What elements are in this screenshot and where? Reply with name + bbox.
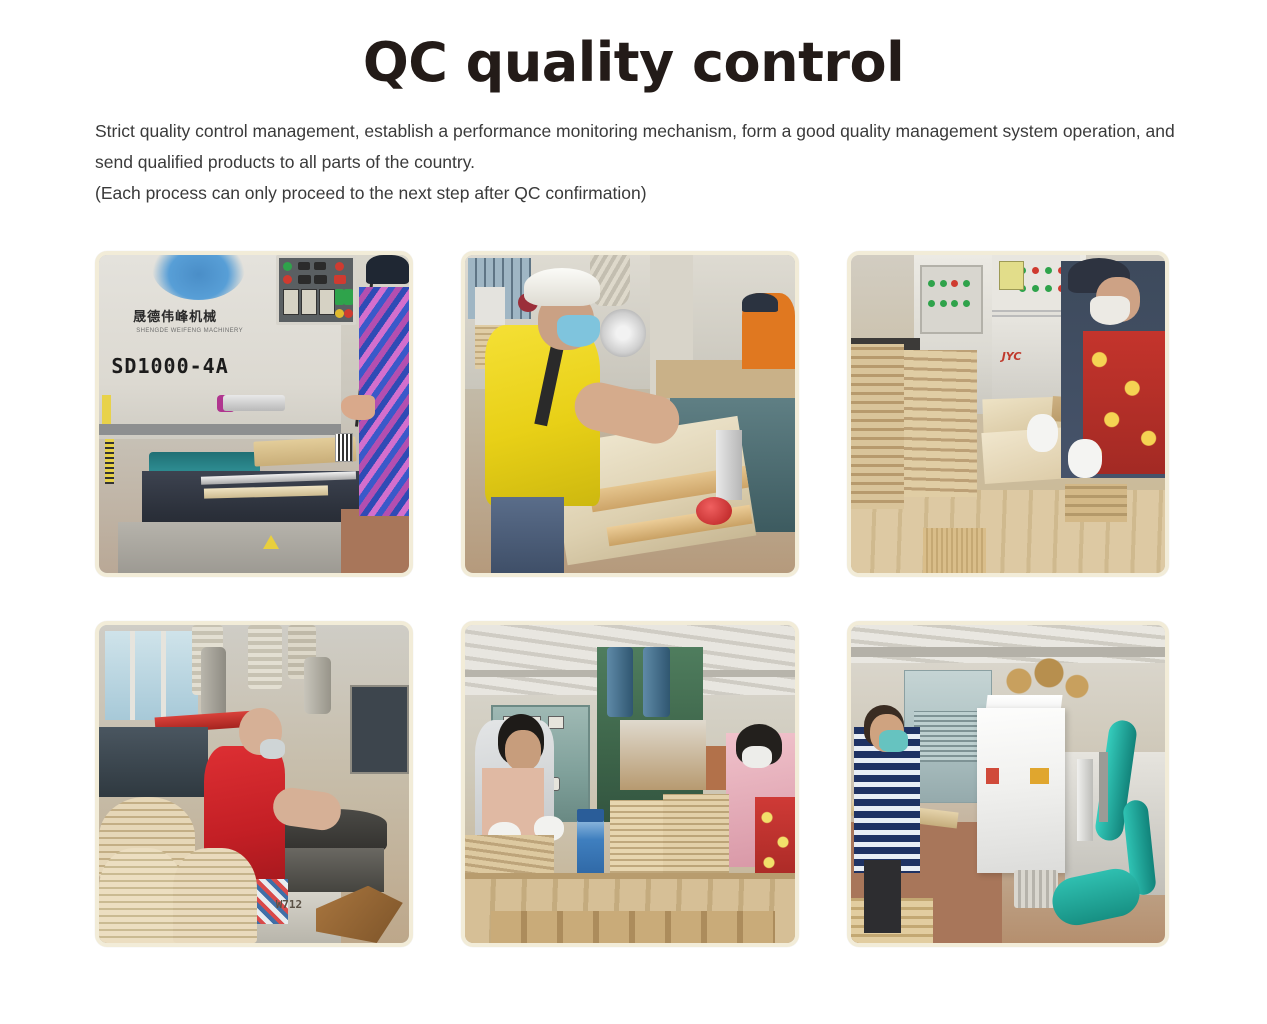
press-opening bbox=[620, 720, 706, 790]
press-ram-right bbox=[643, 647, 669, 717]
bamboo-mat-panel bbox=[923, 528, 986, 573]
operator-left-face bbox=[505, 730, 541, 771]
brand-name-cn: 晟德伟峰机械 bbox=[133, 306, 217, 325]
machine-pressure-post bbox=[716, 430, 742, 500]
intro-paragraph: Strict quality control management, estab… bbox=[95, 116, 1175, 209]
jyc-brand-label: JYC bbox=[1002, 350, 1022, 363]
cabinet-orange-label bbox=[1030, 768, 1049, 784]
background-worker-cap bbox=[742, 293, 778, 312]
gallery-photo-6[interactable]: Worker in a navy striped shirt and blue … bbox=[847, 621, 1169, 947]
photo-5-image bbox=[465, 625, 795, 943]
panel-stack-middle bbox=[904, 350, 976, 496]
qc-quality-control-page: QC quality control Strict quality contro… bbox=[0, 0, 1267, 1024]
machine-model-label: SD1000-4A bbox=[111, 354, 228, 378]
operator-cap bbox=[366, 255, 409, 284]
dust-duct-2 bbox=[248, 625, 282, 689]
timber-strip-bundle bbox=[1065, 484, 1128, 522]
operator-hand bbox=[341, 395, 375, 420]
machine-rod-1 bbox=[1077, 759, 1093, 842]
gallery-photo-4[interactable]: W712 Worker in a red shirt shaping parts… bbox=[95, 621, 413, 947]
qr-code-sticker bbox=[335, 433, 354, 462]
gallery-photo-2[interactable]: Worker in a yellow shirt, white cap and … bbox=[461, 251, 799, 577]
panel-stack-left bbox=[851, 344, 904, 509]
water-bottle-cap bbox=[577, 809, 603, 822]
wooden-pallet bbox=[491, 911, 775, 943]
teal-duct-lower bbox=[1048, 864, 1144, 929]
steamer-ring-stack-right bbox=[173, 848, 257, 943]
machine-handle bbox=[223, 395, 285, 411]
gallery-photo-5[interactable]: Two workers at a bench stacking wooden p… bbox=[461, 621, 799, 947]
workshop-window bbox=[105, 631, 198, 720]
photo-6-image bbox=[851, 625, 1165, 943]
panel-stack-right bbox=[663, 794, 729, 883]
cabinet-vent-grille bbox=[914, 711, 983, 762]
control-panel bbox=[276, 255, 357, 325]
operator-glove-left bbox=[1027, 414, 1058, 452]
gallery-photo-1[interactable]: 晟德伟峰机械 SHENGDE WEIFENG MACHINERY SD1000-… bbox=[95, 251, 413, 577]
factory-floor bbox=[341, 509, 409, 573]
rotary-table-base bbox=[279, 848, 384, 893]
cabinet-red-label bbox=[986, 768, 999, 784]
machine-cylinder-1 bbox=[201, 647, 226, 717]
operator-right-floral-skirt bbox=[755, 797, 795, 880]
photo-4-image: W712 bbox=[99, 625, 409, 943]
page-title: QC quality control bbox=[0, 0, 1267, 94]
window-mullion-2 bbox=[161, 631, 166, 720]
intro-line-2: (Each process can only proceed to the ne… bbox=[95, 178, 1175, 209]
steamer-ring-stack-left bbox=[99, 848, 183, 943]
machine-base bbox=[118, 522, 341, 573]
machine-yellow-placard bbox=[999, 261, 1024, 290]
photo-2-image bbox=[465, 255, 795, 573]
machine-switch-panel bbox=[920, 265, 983, 335]
photo-gallery: 晟德伟峰机械 SHENGDE WEIFENG MACHINERY SD1000-… bbox=[95, 251, 1167, 947]
operator-jeans bbox=[491, 497, 564, 573]
warning-triangle-icon bbox=[263, 535, 279, 549]
wall-fan bbox=[600, 309, 646, 357]
operator-glove-right bbox=[1068, 439, 1103, 477]
hazard-stripe-label bbox=[105, 439, 114, 484]
machine-serial-label: W712 bbox=[276, 898, 303, 911]
machine-cylinder-2 bbox=[304, 657, 332, 714]
machine-trim-bar bbox=[99, 424, 341, 435]
warning-label bbox=[102, 395, 111, 424]
operator-white-cap bbox=[524, 268, 600, 306]
operator-face-mask bbox=[1090, 296, 1131, 325]
gallery-photo-3[interactable]: JYC Worker in floral apron and whi bbox=[847, 251, 1169, 577]
window-mullion bbox=[130, 631, 135, 720]
operator-trousers bbox=[864, 860, 902, 933]
photo-3-image: JYC bbox=[851, 255, 1165, 573]
white-cabinet bbox=[977, 708, 1065, 873]
electrical-control-panel bbox=[350, 685, 409, 774]
photo-1-image: 晟德伟峰机械 SHENGDE WEIFENG MACHINERY SD1000-… bbox=[99, 255, 409, 573]
brand-name-en: SHENGDE WEIFENG MACHINERY bbox=[136, 328, 243, 334]
dark-machine-body bbox=[99, 727, 208, 797]
intro-line-1: Strict quality control management, estab… bbox=[95, 116, 1175, 178]
press-ram-left bbox=[607, 647, 633, 717]
machine-rod-2 bbox=[1099, 752, 1108, 822]
operator-right-face-mask bbox=[742, 746, 772, 768]
operator-face-mask bbox=[260, 739, 285, 758]
operator-face-mask bbox=[879, 730, 907, 752]
